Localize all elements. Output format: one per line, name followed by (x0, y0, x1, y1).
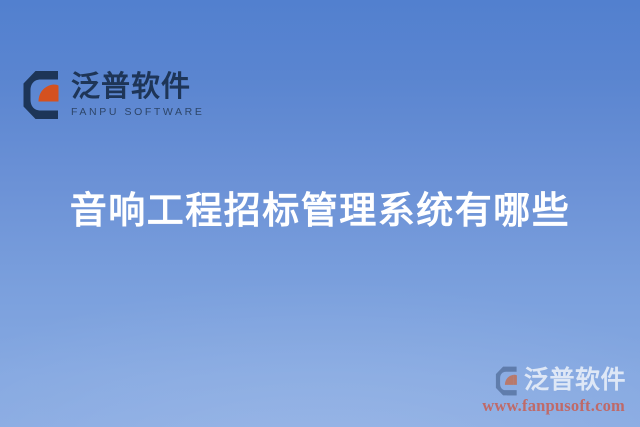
brand-name-en: FANPU SOFTWARE (71, 107, 204, 118)
watermark-lockup: 泛普软件 (494, 366, 626, 396)
brand-wordmark: 泛普软件 FANPU SOFTWARE (71, 72, 204, 117)
brand-name-cn: 泛普软件 (71, 72, 204, 103)
brand-lockup: 泛普软件 FANPU SOFTWARE (22, 70, 204, 120)
watermark: 泛普软件 www.fanpusoft.com (482, 366, 626, 415)
fanpu-logo-icon (22, 70, 62, 120)
watermark-url: www.fanpusoft.com (482, 397, 625, 415)
page-title: 音响工程招标管理系统有哪些 (0, 186, 640, 236)
fanpu-logo-icon (494, 366, 520, 396)
promo-banner: 泛普软件 FANPU SOFTWARE 音响工程招标管理系统有哪些 泛普软件 w… (0, 0, 640, 427)
watermark-name-cn: 泛普软件 (524, 368, 626, 393)
